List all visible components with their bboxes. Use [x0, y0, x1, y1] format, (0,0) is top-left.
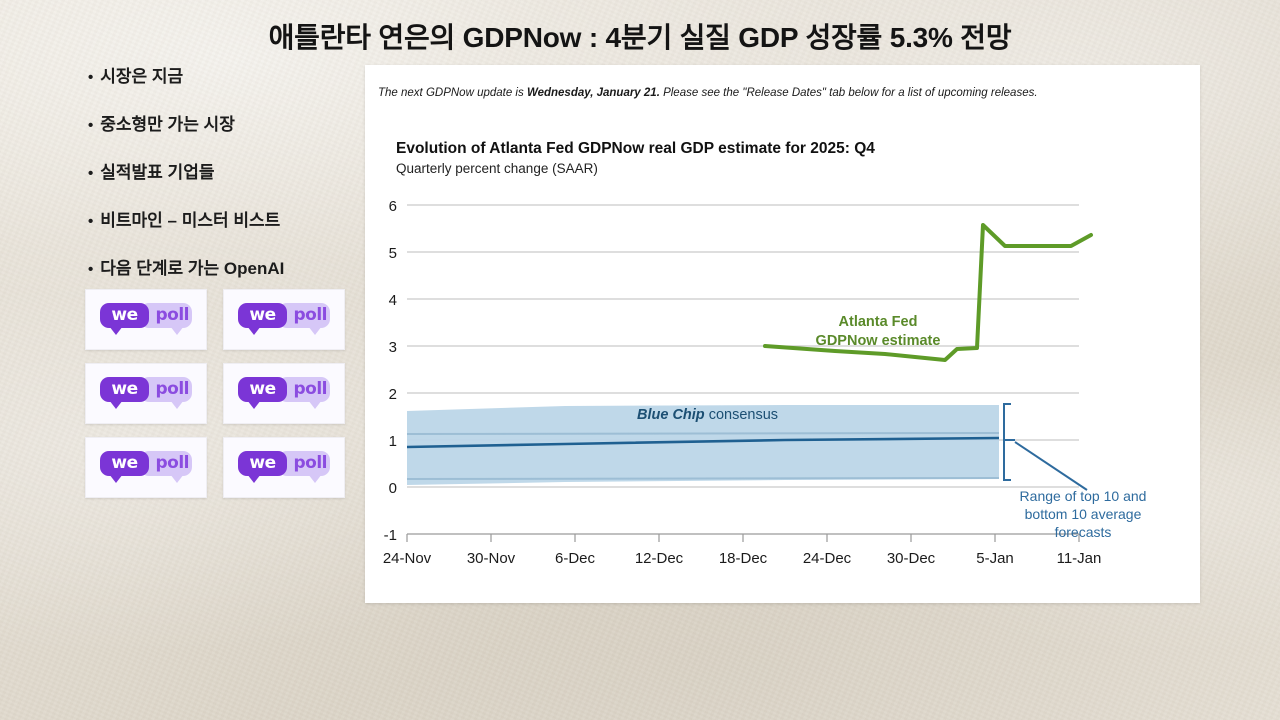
note-bold-date: Wednesday, January 21.	[527, 87, 660, 99]
x-tick-labels: 24-Nov 30-Nov 6-Dec 12-Dec 18-Dec 24-Dec…	[383, 550, 1102, 567]
y-tick-label-1: 1	[389, 433, 397, 450]
x-tick-label-4: 18-Dec	[719, 550, 768, 567]
range-annotation-text: Range of top 10 and bottom 10 average fo…	[1020, 488, 1147, 540]
wepoll-logo-grid: we poll we poll we poll we poll we	[85, 289, 345, 498]
blue-chip-band-upper-edge	[407, 433, 999, 434]
bullet-item-2: • 중소형만 가는 시장	[88, 110, 358, 135]
y-tick-label-4: 4	[389, 292, 397, 309]
bullet-list: • 시장은 지금 • 중소형만 가는 시장 • 실적발표 기업들 • 비트마인 …	[88, 62, 358, 302]
bullet-item-1: • 시장은 지금	[88, 62, 358, 87]
range-bracket-icon	[1004, 404, 1011, 480]
gdpnow-line-chart: 6 5 4 3 2 1 0 -1 24-Nov 30-Nov 6-Dec 12-…	[365, 190, 1200, 603]
atlanta-fed-label-line2: GDPNow estimate	[816, 333, 941, 349]
x-tick-label-5: 24-Dec	[803, 550, 852, 567]
wepoll-logo-icon: we poll	[236, 300, 332, 340]
bullet-text-1: 시장은 지금	[100, 62, 183, 87]
bullet-item-3: • 실적발표 기업들	[88, 158, 358, 183]
wepoll-logo-card-6[interactable]: we poll	[223, 437, 345, 498]
x-tick-label-7: 5-Jan	[976, 550, 1014, 567]
blue-chip-label-italic: Blue Chip	[637, 407, 705, 423]
chart-panel: The next GDPNow update is Wednesday, Jan…	[365, 65, 1200, 603]
page-title: 애틀란타 연은의 GDPNow : 4분기 실질 GDP 성장률 5.3% 전망	[0, 16, 1280, 56]
slide-canvas: 애틀란타 연은의 GDPNow : 4분기 실질 GDP 성장률 5.3% 전망…	[0, 0, 1280, 720]
x-axis	[407, 534, 1079, 542]
y-tick-labels: 6 5 4 3 2 1 0 -1	[384, 198, 397, 544]
atlanta-fed-label: Atlanta Fed GDPNow estimate	[816, 314, 941, 349]
y-tick-label-3: 3	[389, 339, 397, 356]
wepoll-bubble-we: we	[100, 451, 149, 476]
y-tick-label-6: 6	[389, 198, 397, 215]
bullet-marker-icon: •	[88, 118, 93, 133]
gdpnow-update-note: The next GDPNow update is Wednesday, Jan…	[378, 87, 1194, 99]
y-tick-label-2: 2	[389, 386, 397, 403]
range-leader-line	[1015, 442, 1087, 490]
chart-title: Evolution of Atlanta Fed GDPNow real GDP…	[396, 140, 875, 158]
wepoll-bubble-we: we	[238, 451, 287, 476]
range-annotation-line1: Range of top 10 and	[1020, 488, 1147, 504]
wepoll-bubble-we: we	[238, 377, 287, 402]
note-lead: The next GDPNow update is	[378, 87, 527, 99]
y-tick-label-0: 0	[389, 480, 397, 497]
wepoll-logo-icon: we poll	[236, 374, 332, 414]
wepoll-logo-icon: we poll	[236, 448, 332, 488]
blue-chip-label-rest: consensus	[705, 407, 778, 423]
blue-chip-band-lower-edge	[407, 478, 999, 479]
wepoll-bubble-we: we	[100, 303, 149, 328]
bullet-marker-icon: •	[88, 166, 93, 181]
wepoll-logo-icon: we poll	[98, 448, 194, 488]
wepoll-logo-icon: we poll	[98, 374, 194, 414]
bullet-item-4: • 비트마인 – 미스터 비스트	[88, 206, 358, 231]
atlanta-fed-label-line1: Atlanta Fed	[839, 314, 918, 330]
bullet-text-5: 다음 단계로 가는 OpenAI	[100, 254, 284, 279]
y-tick-label-neg1: -1	[384, 527, 397, 544]
x-tick-label-6: 30-Dec	[887, 550, 936, 567]
range-annotation-line2: bottom 10 average	[1025, 506, 1142, 522]
bullet-marker-icon: •	[88, 214, 93, 229]
bullet-text-4: 비트마인 – 미스터 비스트	[100, 206, 280, 231]
wepoll-logo-card-5[interactable]: we poll	[85, 437, 207, 498]
bullet-item-5: • 다음 단계로 가는 OpenAI	[88, 254, 358, 279]
bullet-marker-icon: •	[88, 70, 93, 85]
wepoll-bubble-we: we	[238, 303, 287, 328]
y-tick-label-5: 5	[389, 245, 397, 262]
chart-plot-area: 6 5 4 3 2 1 0 -1 24-Nov 30-Nov 6-Dec 12-…	[365, 190, 1200, 603]
note-tail: Please see the "Release Dates" tab below…	[660, 87, 1038, 99]
x-tick-label-1: 30-Nov	[467, 550, 516, 567]
x-tick-label-8: 11-Jan	[1057, 550, 1102, 567]
chart-subtitle: Quarterly percent change (SAAR)	[396, 161, 598, 176]
bullet-text-3: 실적발표 기업들	[100, 158, 214, 183]
x-tick-label-3: 12-Dec	[635, 550, 684, 567]
wepoll-logo-icon: we poll	[98, 300, 194, 340]
wepoll-bubble-we: we	[100, 377, 149, 402]
bullet-marker-icon: •	[88, 262, 93, 277]
range-annotation-line3: forecasts	[1055, 524, 1112, 540]
wepoll-logo-card-3[interactable]: we poll	[85, 363, 207, 424]
x-tick-label-2: 6-Dec	[555, 550, 596, 567]
wepoll-logo-card-1[interactable]: we poll	[85, 289, 207, 350]
bullet-text-2: 중소형만 가는 시장	[100, 110, 235, 135]
x-tick-label-0: 24-Nov	[383, 550, 432, 567]
wepoll-logo-card-2[interactable]: we poll	[223, 289, 345, 350]
wepoll-logo-card-4[interactable]: we poll	[223, 363, 345, 424]
blue-chip-consensus-label: Blue Chip consensus	[637, 407, 778, 423]
